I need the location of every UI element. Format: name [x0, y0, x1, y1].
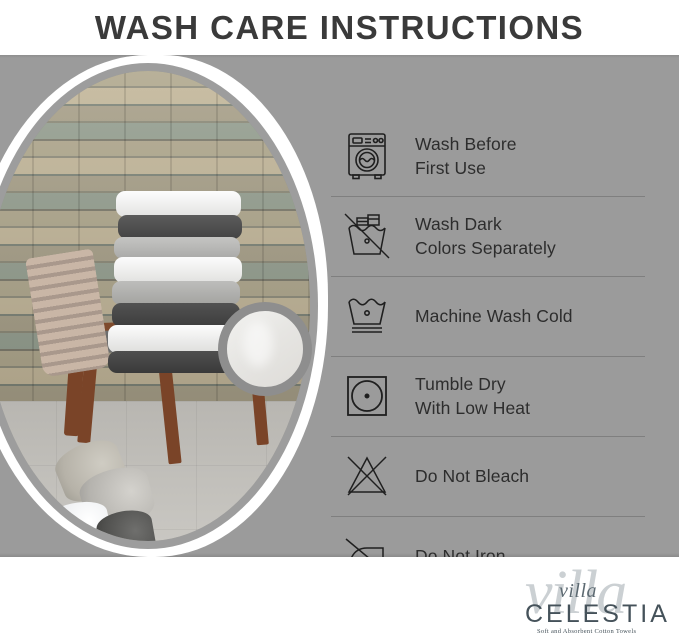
page-title: WASH CARE INSTRUCTIONS: [95, 11, 584, 44]
towel-gray-1: [114, 237, 240, 259]
towel-texture-magnifier: [218, 302, 312, 396]
towel-gray-2: [112, 281, 240, 305]
care-label-tumble-dry-low-heat: Tumble Dry With Low Heat: [415, 372, 530, 420]
care-row-wash-dark-colors-separately: Wash Dark Colors Separately: [325, 196, 679, 276]
do-not-iron-icon: [339, 528, 395, 557]
product-photo: [0, 55, 328, 557]
care-instruction-list: Wash Before First Use Wash Dark Colors S…: [325, 110, 679, 557]
magnifier-glint: [243, 321, 273, 367]
wash-dark-colors-separately-icon: [339, 208, 395, 264]
machine-wash-cold-icon: [339, 288, 395, 344]
tumble-dry-low-heat-icon: [339, 368, 395, 424]
care-label-do-not-iron: Do Not Iron: [415, 544, 506, 557]
care-row-machine-wash-cold: Machine Wash Cold: [325, 276, 679, 356]
care-row-do-not-bleach: Do Not Bleach: [325, 436, 679, 516]
care-row-wash-before-first-use: Wash Before First Use: [325, 116, 679, 196]
care-label-wash-dark-colors-separately: Wash Dark Colors Separately: [415, 212, 556, 260]
towel-white-1: [116, 191, 241, 217]
care-label-machine-wash-cold: Machine Wash Cold: [415, 304, 573, 328]
towel-dark-2: [112, 303, 240, 327]
brand-name: CELESTIA: [525, 600, 670, 629]
page-header: WASH CARE INSTRUCTIONS: [0, 0, 679, 55]
washing-machine-icon: [339, 128, 395, 184]
care-label-do-not-bleach: Do Not Bleach: [415, 464, 529, 488]
brand-logo: villa villa CELESTIA Soft and Absorbent …: [517, 560, 667, 640]
towel-white-2: [114, 257, 242, 283]
brand-tagline: Soft and Absorbent Cotton Towels: [537, 628, 636, 635]
care-row-do-not-iron: Do Not Iron: [325, 516, 679, 557]
care-label-wash-before-first-use: Wash Before First Use: [415, 132, 517, 180]
do-not-bleach-icon: [339, 448, 395, 504]
care-panel: Wash Before First Use Wash Dark Colors S…: [0, 55, 679, 557]
care-row-tumble-dry-low-heat: Tumble Dry With Low Heat: [325, 356, 679, 436]
towel-dark-1: [118, 215, 242, 239]
